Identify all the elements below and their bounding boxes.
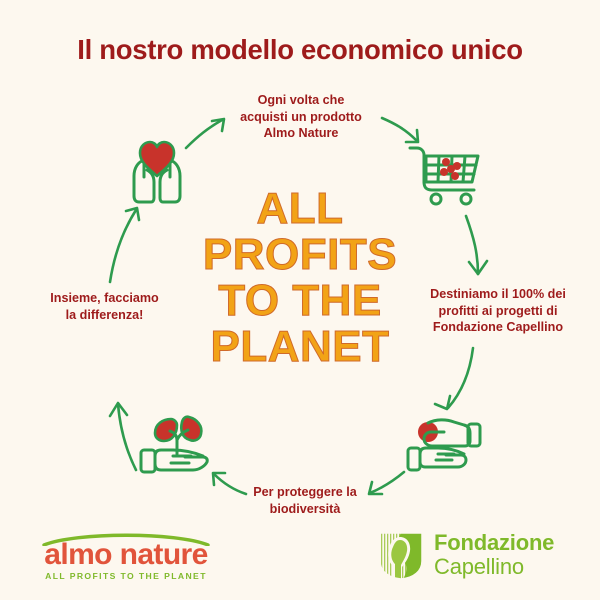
cycle-label-bottom-line-1: Per proteggere la bbox=[225, 484, 385, 501]
almo-nature-logo: almo nature ALL PROFITS TO THE PLANET bbox=[36, 532, 216, 584]
arrow-right-upper bbox=[466, 216, 487, 274]
cycle-label-top: Ogni volta che acquisti un prodotto Almo… bbox=[215, 92, 387, 142]
cycle-label-right-line-3: Fondazione Capellino bbox=[408, 319, 588, 336]
fondazione-line-2: Capellino bbox=[434, 555, 574, 579]
fondazione-capellino-shield-icon bbox=[378, 531, 424, 581]
cycle-label-right-line-2: profitti ai progetti di bbox=[408, 303, 588, 320]
center-headline-line-1: ALL bbox=[160, 186, 440, 232]
cycle-label-top-line-3: Almo Nature bbox=[215, 125, 387, 142]
hand-giving-apple-icon bbox=[402, 406, 488, 481]
arrow-right-lower bbox=[435, 348, 473, 409]
center-headline: ALL PROFITS TO THE PLANET bbox=[160, 186, 440, 370]
cycle-label-right: Destiniamo il 100% dei profitti ai proge… bbox=[408, 286, 588, 336]
cycle-label-right-line-1: Destiniamo il 100% dei bbox=[408, 286, 588, 303]
hands-holding-heart-icon bbox=[118, 132, 196, 211]
fondazione-capellino-logo: Fondazione Capellino bbox=[378, 530, 568, 582]
cycle-label-left: Insieme, facciamo la differenza! bbox=[22, 290, 187, 323]
center-headline-line-3: TO THE bbox=[160, 278, 440, 324]
cycle-label-left-line-2: la differenza! bbox=[22, 307, 187, 324]
cycle-label-bottom-line-2: biodiversità bbox=[225, 501, 385, 518]
fondazione-capellino-wordmark: Fondazione Capellino bbox=[434, 531, 574, 579]
cycle-label-bottom: Per proteggere la biodiversità bbox=[225, 484, 385, 517]
shopping-cart-icon bbox=[404, 136, 486, 213]
cycle-label-top-line-1: Ogni volta che bbox=[215, 92, 387, 109]
center-headline-line-2: PROFITS bbox=[160, 232, 440, 278]
hand-holding-plant-icon bbox=[133, 406, 217, 483]
infographic-canvas: Il nostro modello economico unico .arr {… bbox=[0, 0, 600, 600]
center-headline-line-4: PLANET bbox=[160, 324, 440, 370]
arrow-left-upper bbox=[110, 208, 139, 282]
almo-nature-wordmark: almo nature bbox=[36, 540, 216, 570]
fondazione-line-1: Fondazione bbox=[434, 531, 574, 555]
almo-nature-tagline: ALL PROFITS TO THE PLANET bbox=[36, 571, 216, 581]
cycle-label-top-line-2: acquisti un prodotto bbox=[215, 109, 387, 126]
cycle-label-left-line-1: Insieme, facciamo bbox=[22, 290, 187, 307]
